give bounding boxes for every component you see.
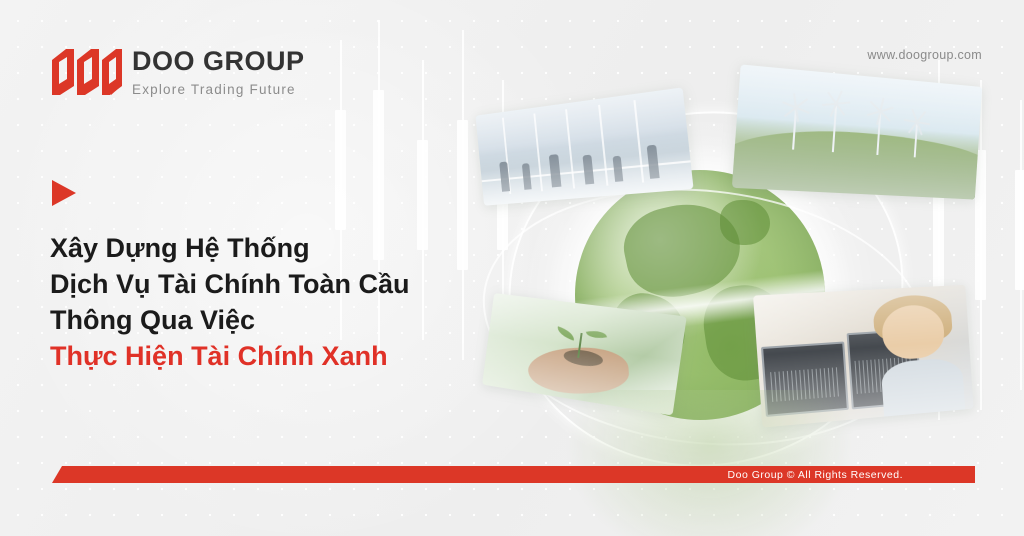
- brand-tagline: Explore Trading Future: [132, 82, 305, 97]
- brand-name: DOO GROUP: [132, 48, 305, 75]
- headline-line-4-accent: Thực Hiện Tài Chính Xanh: [50, 338, 480, 374]
- copyright-text: Doo Group © All Rights Reserved.: [728, 469, 903, 481]
- marketing-banner: DOO GROUP Explore Trading Future www.doo…: [0, 0, 1024, 536]
- footer-bar: Doo Group © All Rights Reserved.: [52, 466, 975, 483]
- brand-wordmark: DOO GROUP Explore Trading Future: [132, 46, 305, 97]
- wind-turbines-hillside-photo: [732, 64, 982, 199]
- headline-line-2: Dịch Vụ Tài Chính Toàn Cầu: [50, 266, 480, 302]
- doo-logo-mark-icon: [48, 46, 122, 96]
- hero-collage: [430, 40, 1024, 460]
- headline-line-3: Thông Qua Việc: [50, 302, 480, 338]
- headline-block: Xây Dựng Hệ Thống Dịch Vụ Tài Chính Toàn…: [50, 230, 480, 374]
- play-triangle-marker-icon: [52, 180, 76, 206]
- trader-at-monitors-photo: [753, 285, 973, 428]
- people-walking-corridor-photo: [475, 87, 693, 205]
- brand-logo[interactable]: DOO GROUP Explore Trading Future: [48, 46, 305, 97]
- headline-line-1: Xây Dựng Hệ Thống: [50, 230, 480, 266]
